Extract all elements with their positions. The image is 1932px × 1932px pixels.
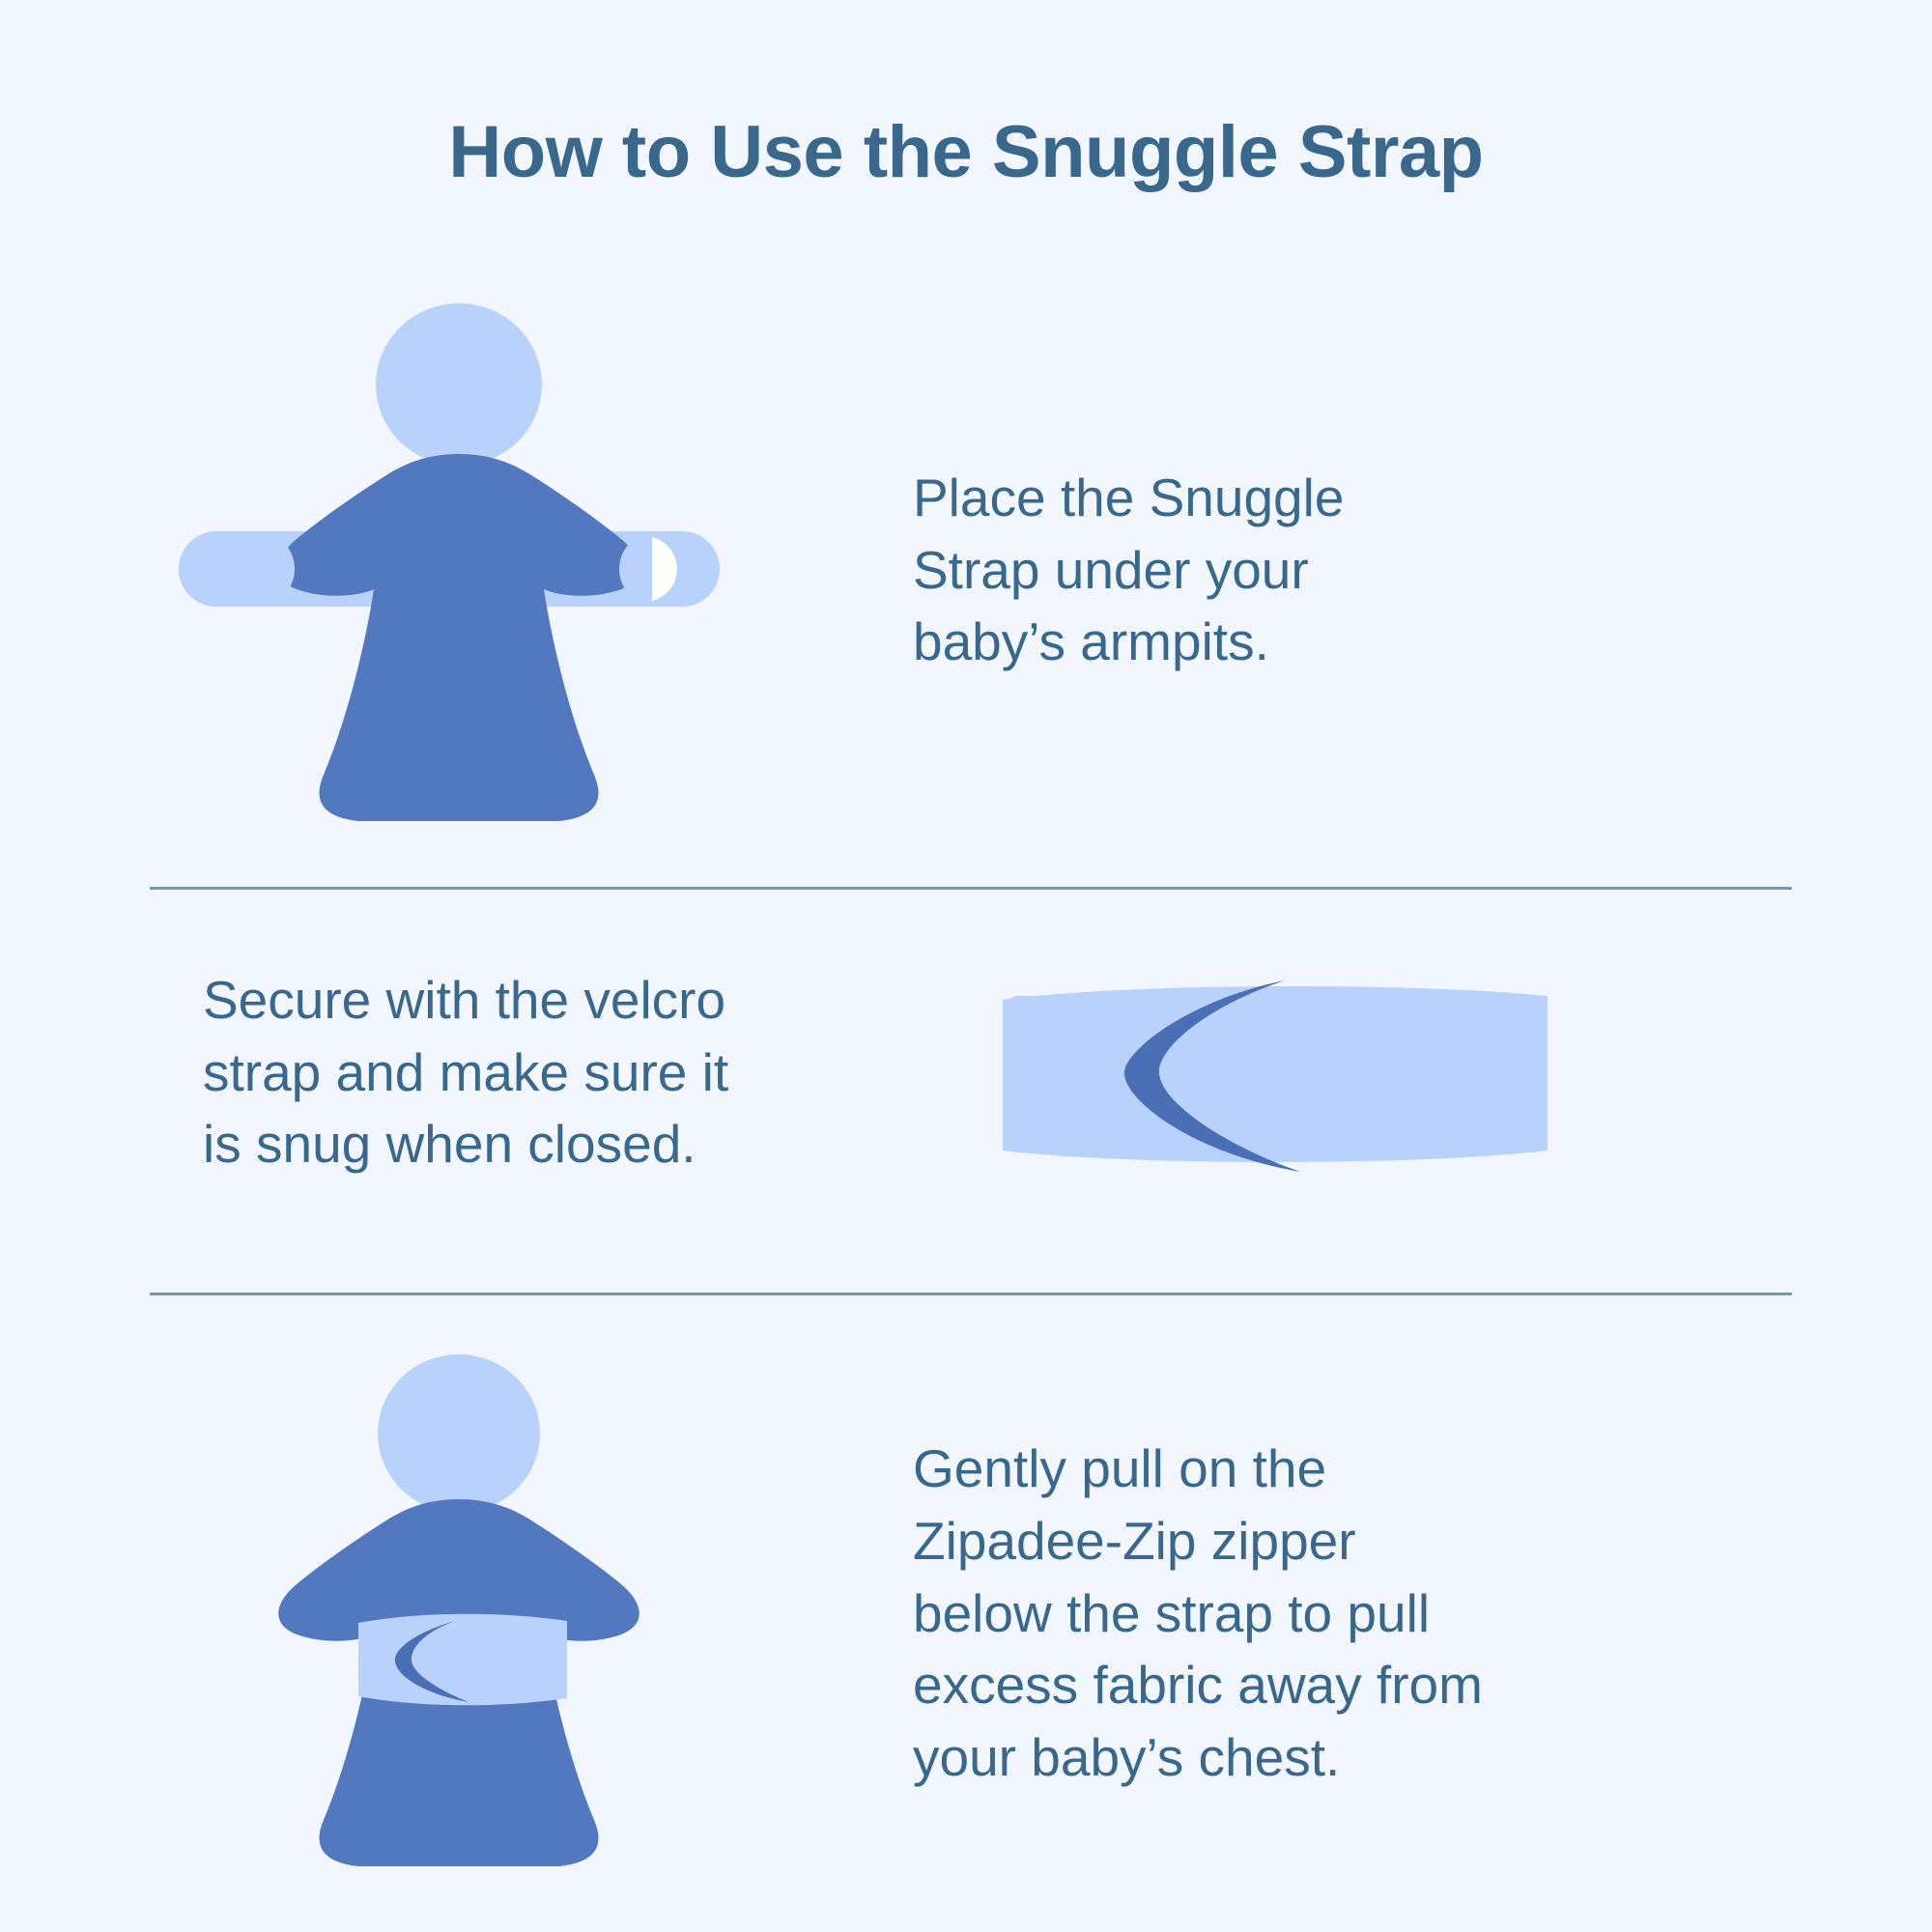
- step-3: Gently pull on the Zipadee-Zip zipper be…: [150, 1343, 1792, 1884]
- baby-with-strap-secured-icon: [169, 1352, 749, 1874]
- title-container: How to Use the Snuggle Strap: [0, 114, 1932, 191]
- step-3-text: Gently pull on the Zipadee-Zip zipper be…: [913, 1433, 1589, 1794]
- baby-with-strap-under-armpits-icon: [169, 299, 749, 840]
- step-1-illustration: [150, 299, 768, 840]
- page-title: How to Use the Snuggle Strap: [0, 114, 1932, 191]
- step-2-illustration: [976, 961, 1575, 1183]
- infographic-root: How to Use the Snuggle Strap: [0, 0, 1932, 1932]
- step-2: Secure with the velcro strap and make su…: [150, 927, 1792, 1217]
- baby-head-shape: [378, 1354, 540, 1513]
- velcro-strap-band-closed-icon: [995, 961, 1555, 1183]
- step-1: Place the Snuggle Strap under your baby’…: [150, 290, 1792, 850]
- step-2-text: Secure with the velcro strap and make su…: [203, 964, 821, 1180]
- baby-body-shape: [278, 454, 639, 821]
- divider-2: [150, 1293, 1792, 1295]
- baby-head-shape: [376, 303, 542, 466]
- divider-1: [150, 887, 1792, 890]
- wrapped-strap-band: [358, 1614, 567, 1706]
- step-1-text: Place the Snuggle Strap under your baby’…: [913, 462, 1531, 678]
- step-3-illustration: [150, 1352, 768, 1874]
